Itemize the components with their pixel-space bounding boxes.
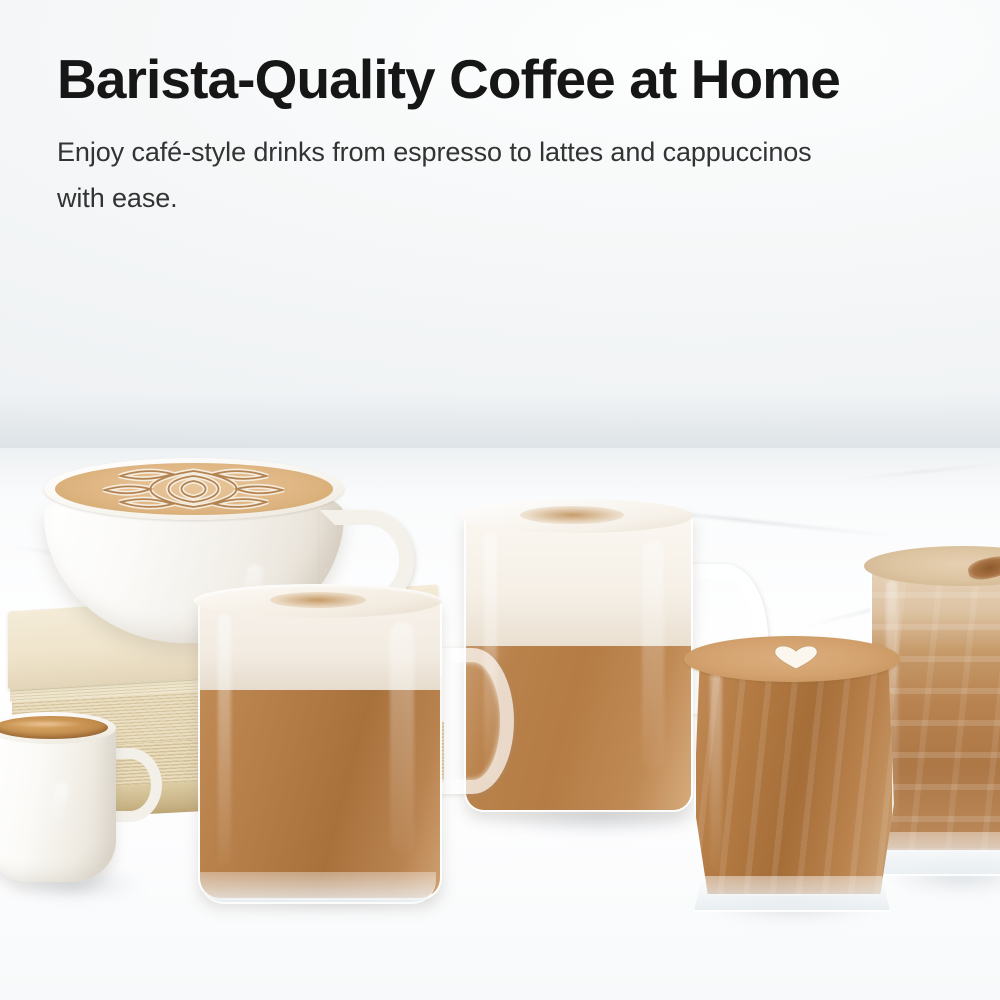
milk-foam-layer [466, 514, 691, 646]
coffee-layer [200, 690, 440, 898]
banner-text-block: Barista-Quality Coffee at Home Enjoy caf… [57, 48, 967, 221]
faceted-glass-texture [696, 656, 892, 894]
glass-base [200, 872, 436, 904]
rosetta-latte-art-icon [87, 467, 302, 511]
page-title: Barista-Quality Coffee at Home [57, 48, 967, 110]
cortado-glass [684, 644, 904, 920]
cup-body [0, 722, 116, 882]
glass-body [198, 596, 442, 900]
bowl-crema-surface [55, 463, 333, 515]
cinnamon-dusting [520, 506, 624, 524]
espresso-cup [0, 706, 146, 896]
heart-latte-art-icon [770, 644, 822, 670]
promotional-banner: Barista-Quality Coffee at Home Enjoy caf… [0, 0, 1000, 1000]
cinnamon-dusting [270, 592, 366, 608]
glass-body [694, 654, 894, 896]
page-subtitle: Enjoy café-style drinks from espresso to… [57, 110, 847, 221]
glass-base [694, 876, 890, 912]
latte-glass-mug [192, 596, 482, 916]
